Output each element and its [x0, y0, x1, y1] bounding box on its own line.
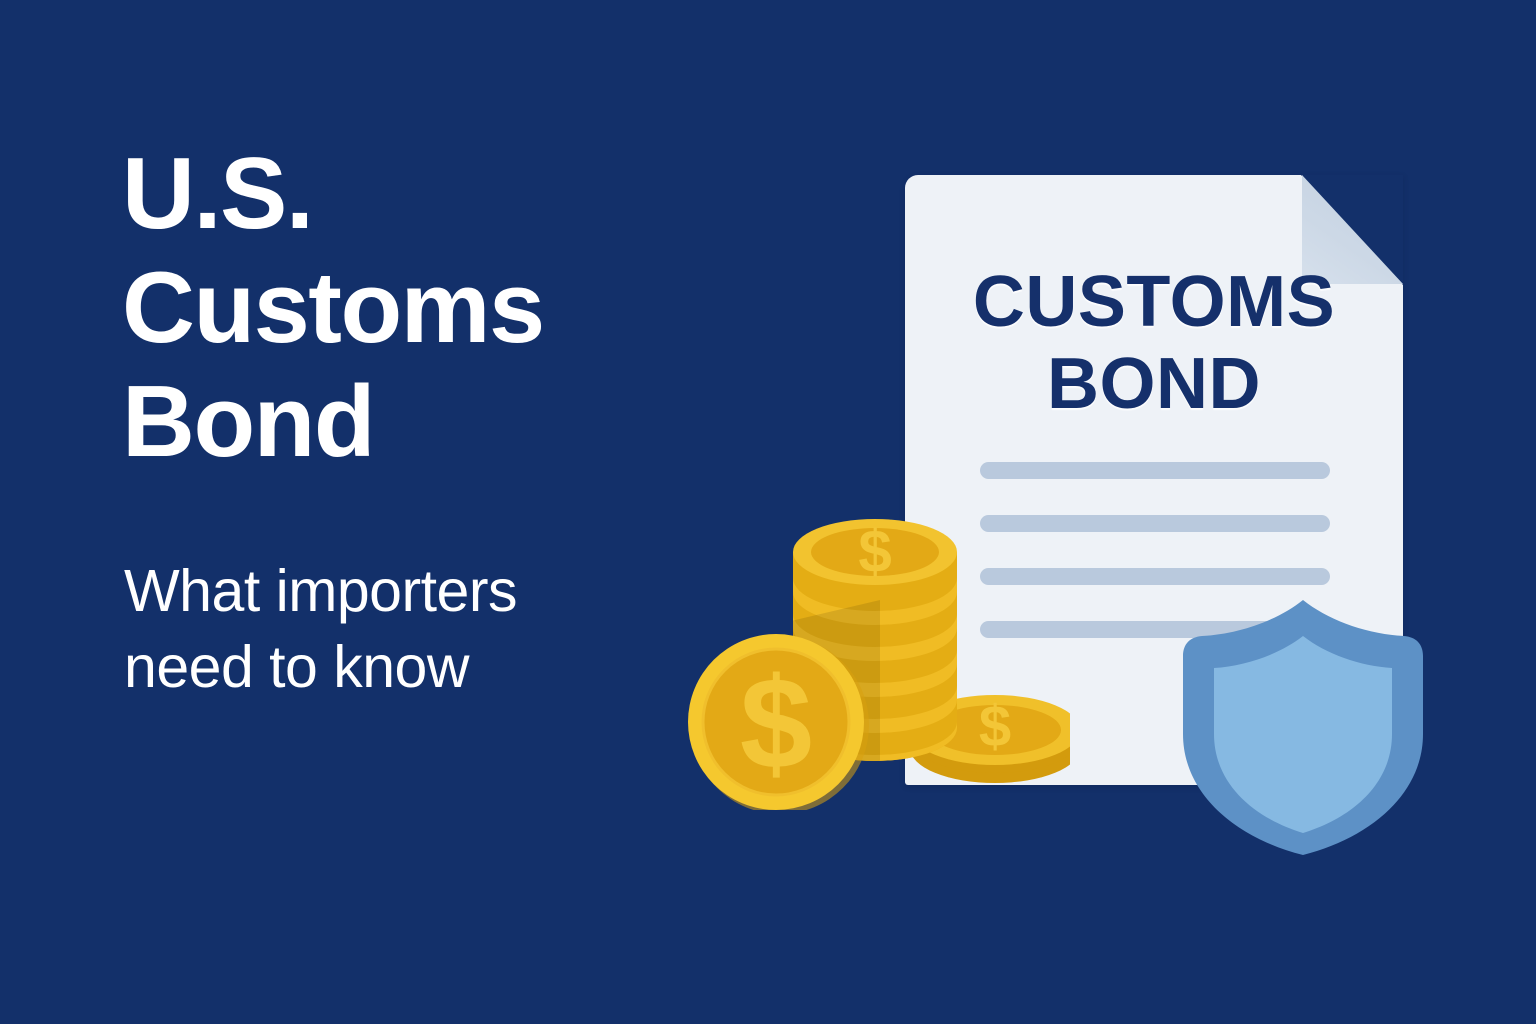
shield-icon: [1178, 594, 1428, 860]
svg-text:$: $: [740, 650, 812, 796]
poster-canvas: U.S. Customs Bond What importers need to…: [0, 0, 1536, 1024]
customs-bond-illustration: CUSTOMS BOND: [0, 0, 1536, 1024]
document-title: CUSTOMS BOND: [905, 261, 1403, 425]
svg-text:$: $: [858, 518, 891, 585]
svg-text:$: $: [979, 694, 1011, 759]
document-line: [980, 462, 1330, 479]
coin-stack-dollar-icon: $: [670, 490, 1070, 810]
